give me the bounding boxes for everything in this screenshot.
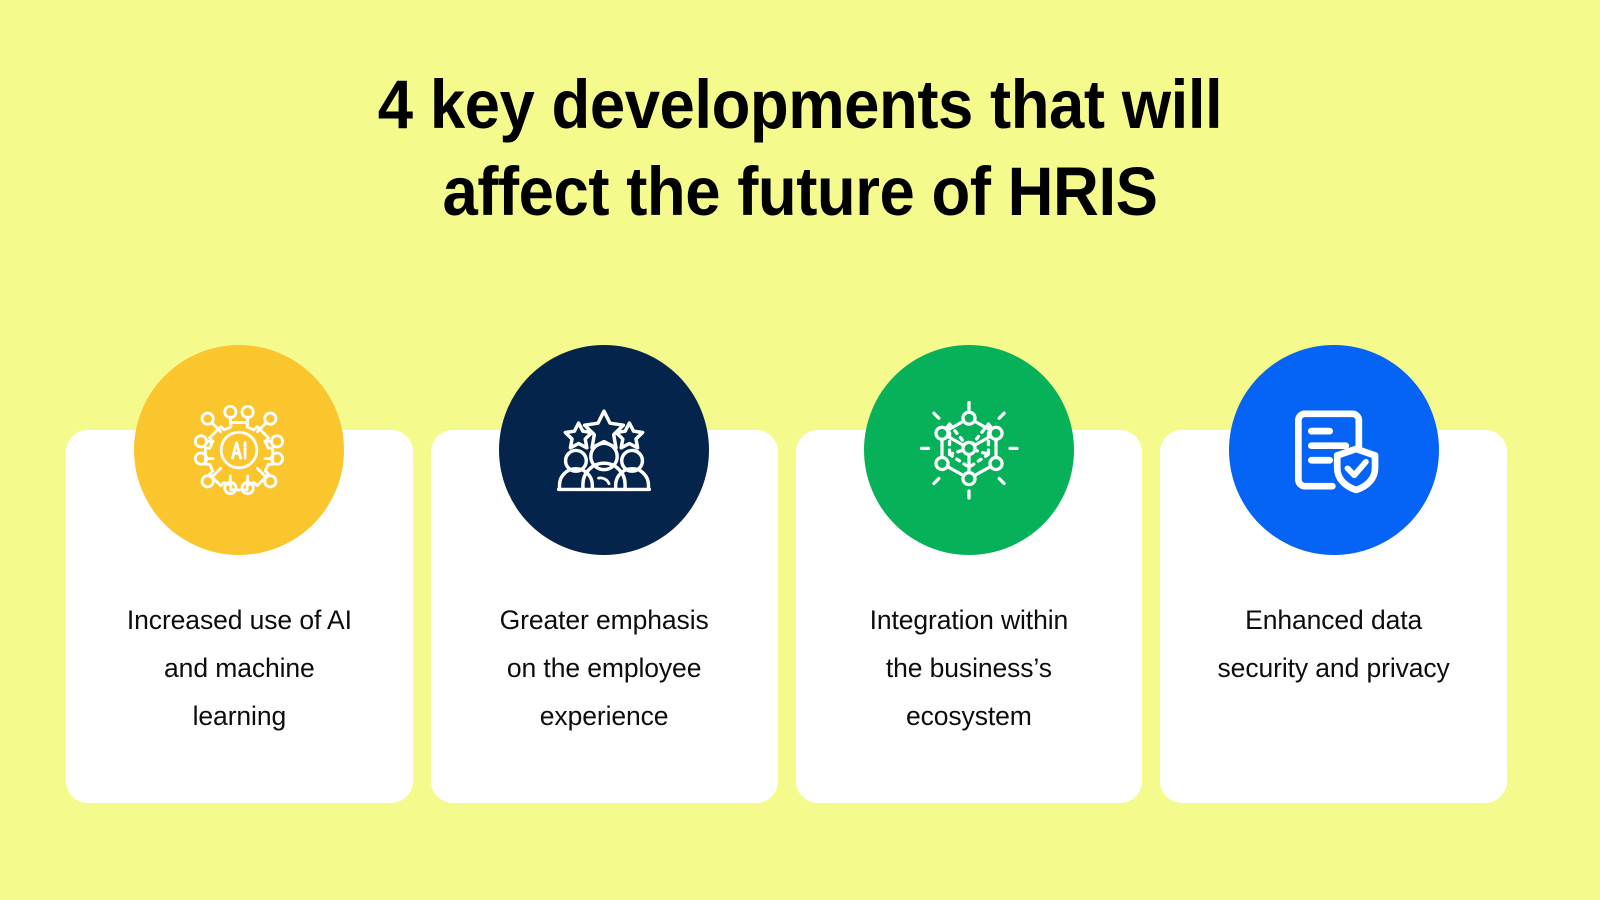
people-stars-icon	[550, 396, 658, 504]
document-shield-check-icon	[1280, 396, 1388, 504]
card-business-ecosystem[interactable]: Integration within the business’s ecosys…	[796, 430, 1143, 803]
card-label: Greater emphasis on the employee experie…	[487, 596, 722, 741]
network-cube-icon	[915, 396, 1023, 504]
icon-circle-document-shield	[1229, 345, 1439, 555]
card-label: Integration within the business’s ecosys…	[851, 596, 1086, 741]
card-ai-machine-learning[interactable]: Increased use of AI and machine learning	[66, 430, 413, 803]
icon-circle-network-cube	[864, 345, 1074, 555]
developments-card-row: Increased use of AI and machine learning	[66, 430, 1507, 803]
ai-chip-gear-icon	[185, 396, 293, 504]
page-title: 4 key developments that will affect the …	[64, 62, 1536, 236]
card-employee-experience[interactable]: Greater emphasis on the employee experie…	[431, 430, 778, 803]
infographic-page: { "background_color": "#f4fb8c", "title"…	[0, 0, 1600, 900]
card-label: Increased use of AI and machine learning	[122, 596, 357, 741]
card-data-security-privacy[interactable]: Enhanced data security and privacy	[1160, 430, 1507, 803]
card-label: Enhanced data security and privacy	[1216, 596, 1451, 692]
icon-circle-ai	[134, 345, 344, 555]
title-block: 4 key developments that will affect the …	[0, 62, 1600, 236]
icon-circle-people	[499, 345, 709, 555]
